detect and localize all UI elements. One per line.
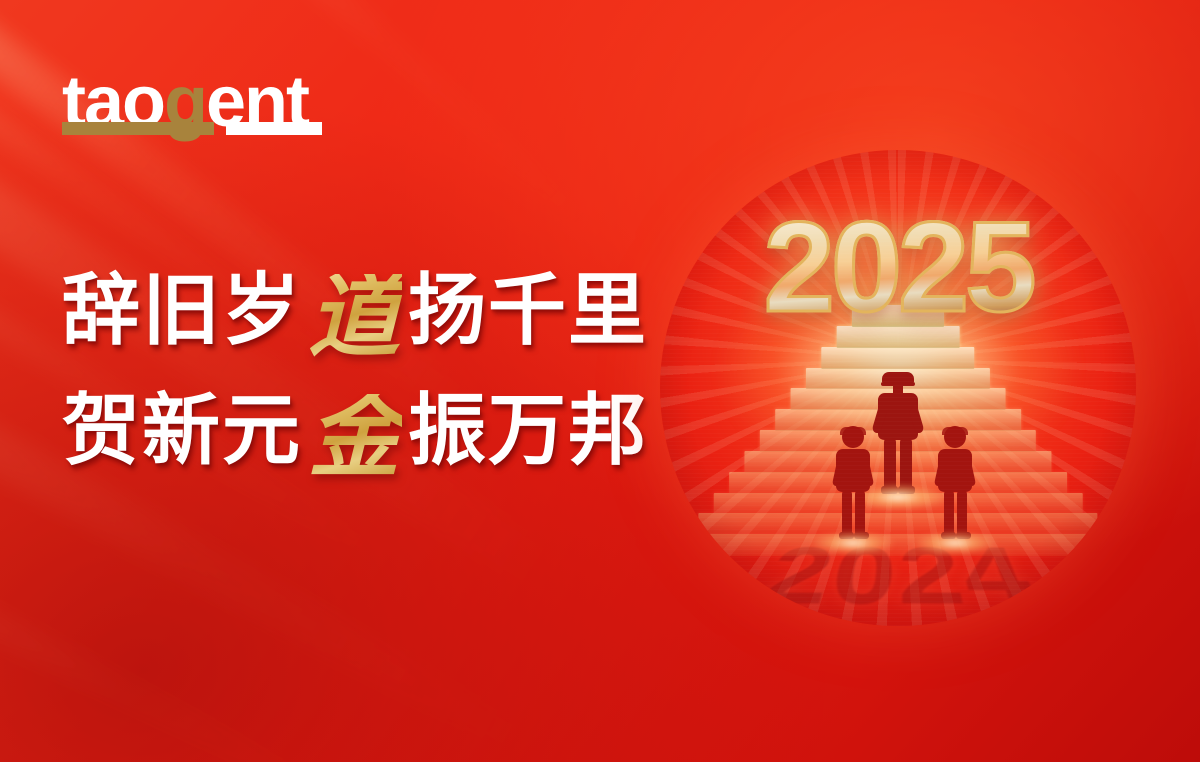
couplet-line-1-highlight: 道: [308, 274, 402, 360]
light-ray: [0, 540, 430, 762]
walking-person-silhouette-left: [830, 426, 876, 544]
walking-person-silhouette-right: [932, 426, 978, 544]
new-year-banner: taogent 辞旧岁 道 扬千里 贺新元 金 振万邦 2024 2025: [0, 0, 1200, 762]
figure-floor-glow: [914, 532, 996, 554]
couplet-line-2-after: 振万邦: [408, 388, 648, 474]
couplet-line-1-after: 扬千里: [408, 268, 648, 354]
staircase-step: [698, 513, 1097, 535]
couplet-headline: 辞旧岁 道 扬千里 贺新元 金 振万邦: [62, 268, 642, 508]
couplet-line-1-before: 辞旧岁: [62, 268, 302, 354]
brand-logo-underline-white: [226, 122, 322, 135]
couplet-line-2-before: 贺新元: [62, 388, 302, 474]
staircase-step: [683, 534, 1113, 556]
couplet-line-1: 辞旧岁 道 扬千里: [62, 268, 642, 354]
brand-logo[interactable]: taogent: [62, 66, 322, 154]
couplet-line-2: 贺新元 金 振万邦: [62, 388, 642, 474]
circular-artwork: 2024 2025: [660, 150, 1136, 626]
brand-logo-underline: [62, 122, 322, 135]
standing-worker-silhouette: [871, 366, 925, 498]
figure-floor-glow: [812, 532, 894, 554]
brand-logo-underline-gold: [62, 122, 214, 135]
year-2025-numerals: 2025: [660, 204, 1136, 332]
couplet-line-2-highlight: 金: [308, 394, 402, 480]
